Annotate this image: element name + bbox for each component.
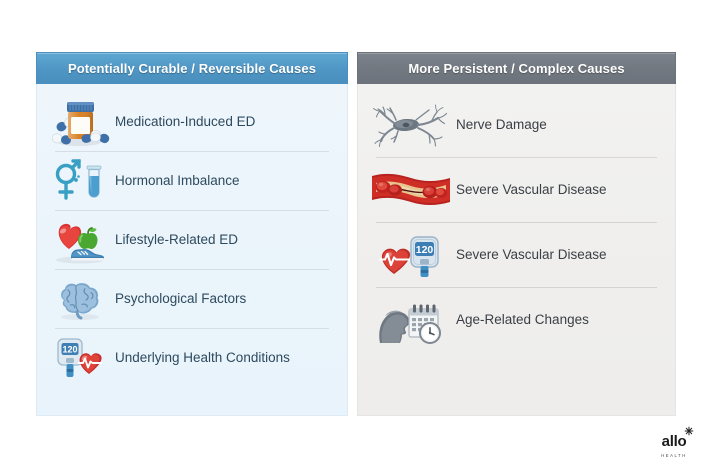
slide-root: Potentially Curable / Reversible Causes	[0, 0, 712, 475]
list-item[interactable]: Nerve Damage	[372, 92, 663, 157]
list-item-label: Severe Vascular Disease	[456, 247, 607, 263]
list-item-label: Lifestyle-Related ED	[115, 232, 238, 248]
list-item-label: Hormonal Imbalance	[115, 173, 240, 189]
column-header-persistent: More Persistent / Complex Causes	[357, 52, 676, 84]
list-item-label: Psychological Factors	[115, 291, 246, 307]
list-item-label: Severe Vascular Disease	[456, 182, 607, 198]
column-persistent: More Persistent / Complex Causes	[357, 52, 676, 416]
allo-health-logo: allo ✳ HEALTH	[648, 433, 700, 467]
blocked-artery-icon	[372, 167, 450, 213]
list-item-label: Medication-Induced ED	[115, 114, 255, 130]
svg-text:120: 120	[416, 244, 434, 256]
elderly-calendar-clock-icon	[372, 297, 450, 343]
heart-apple-sneaker-icon	[51, 215, 109, 265]
svg-text:120: 120	[62, 344, 77, 354]
neuron-icon	[372, 102, 450, 148]
list-item[interactable]: Severe Vascular Disease	[372, 157, 663, 222]
glucose-meter-heart-icon: 120	[51, 333, 109, 383]
list-item-label: Underlying Health Conditions	[115, 350, 290, 366]
heart-glucose-meter-icon: 120	[372, 232, 450, 278]
column-curable: Potentially Curable / Reversible Causes	[36, 52, 348, 416]
column-body-curable: Medication-Induced ED	[36, 84, 348, 416]
list-item-label: Age-Related Changes	[456, 312, 589, 328]
list-item-label: Nerve Damage	[456, 117, 547, 133]
list-item[interactable]: Psychological Factors	[51, 269, 335, 328]
pill-bottle-icon	[51, 97, 109, 147]
list-item[interactable]: Age-Related Changes	[372, 287, 663, 352]
comparison-columns: Potentially Curable / Reversible Causes	[36, 52, 676, 416]
sparkle-icon: ✳	[684, 427, 693, 438]
list-item[interactable]: Medication-Induced ED	[51, 92, 335, 151]
column-header-curable: Potentially Curable / Reversible Causes	[36, 52, 348, 84]
logo-word-text: allo	[662, 433, 687, 450]
logo-subtitle: HEALTH	[648, 453, 700, 458]
logo-wordmark: allo ✳	[662, 434, 687, 449]
column-body-persistent: Nerve Damage	[357, 84, 676, 416]
gender-symbols-test-tube-icon	[51, 156, 109, 206]
list-item[interactable]: Lifestyle-Related ED	[51, 210, 335, 269]
list-item[interactable]: 120 Unde	[51, 328, 335, 387]
list-item[interactable]: Hormonal Imbalance	[51, 151, 335, 210]
brain-icon	[51, 274, 109, 324]
list-item[interactable]: 120 Severe Vascular Disease	[372, 222, 663, 287]
